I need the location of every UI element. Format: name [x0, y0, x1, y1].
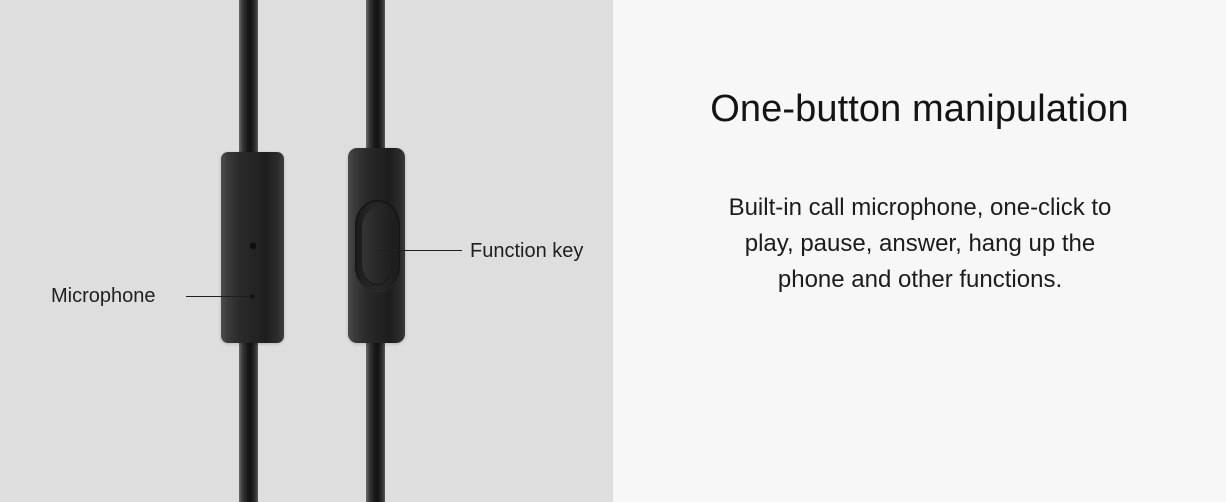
microphone-cable-upper — [239, 0, 258, 156]
callout-label-microphone: Microphone — [51, 286, 156, 306]
feature-heading: One-button manipulation — [613, 88, 1226, 132]
function-button — [362, 208, 392, 284]
product-photo-panel: Microphone Function key — [0, 0, 613, 502]
function-key-leader-line — [378, 250, 462, 251]
remote-cable-lower — [366, 338, 385, 502]
microphone-leader-dot-icon — [250, 294, 255, 299]
description-line: Built-in call microphone, one-click to — [699, 190, 1141, 226]
description-line: phone and other functions. — [699, 262, 1141, 298]
callout-label-function-key: Function key — [470, 241, 583, 261]
function-button-recess — [355, 200, 400, 292]
microphone-pinhole-icon — [250, 243, 256, 249]
feature-description: Built-in call microphone, one-click to p… — [699, 190, 1141, 298]
description-line: play, pause, answer, hang up the — [699, 226, 1141, 262]
remote-control-module — [348, 148, 405, 343]
microphone-leader-line — [186, 296, 253, 297]
feature-text-panel: One-button manipulation Built-in call mi… — [613, 0, 1226, 502]
microphone-cable-lower — [239, 338, 258, 502]
product-feature-banner: Microphone Function key One-button manip… — [0, 0, 1226, 502]
microphone-capsule — [221, 152, 284, 343]
remote-cable-upper — [366, 0, 385, 152]
